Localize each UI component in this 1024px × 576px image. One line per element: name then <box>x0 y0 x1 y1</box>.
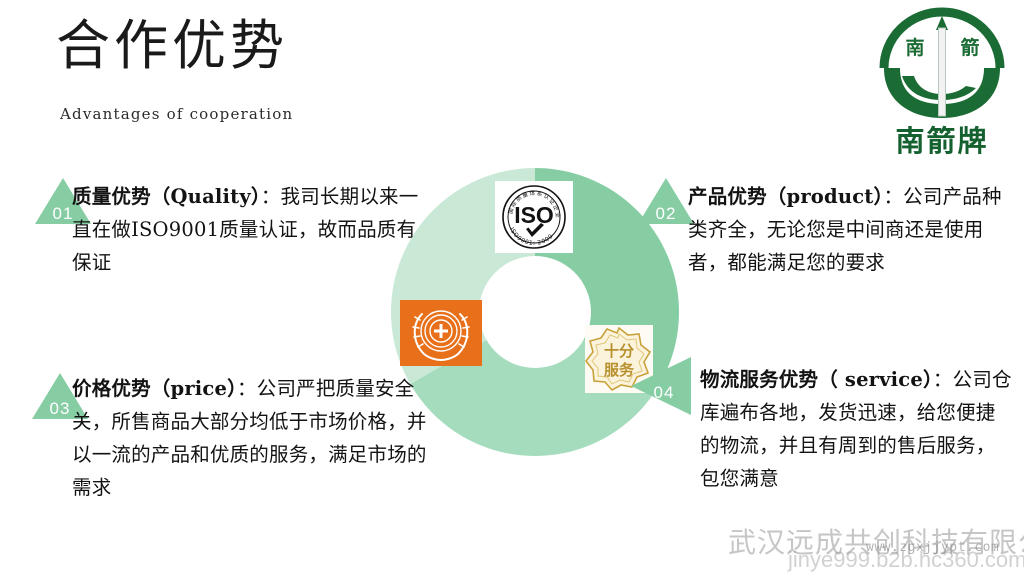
page-title: 合作优势 <box>56 18 288 75</box>
iso-certification-badge: 国际质量体系认证企业 ISO ISO9001: 2000 <box>495 181 573 253</box>
nanjian-logo-icon: 南 箭 <box>872 6 1012 121</box>
marker-04: 04 <box>625 355 693 417</box>
brand-logo: 南 箭 南箭牌 <box>872 6 1012 166</box>
logo-char-right: 箭 <box>960 36 979 59</box>
marker-02: 02 <box>636 176 696 226</box>
advantage-03-heading: 价格优势（price） <box>72 377 237 400</box>
logo-wordmark: 南箭牌 <box>872 118 1012 160</box>
quality-seal-badge <box>400 300 482 366</box>
marker-04-number: 04 <box>635 383 693 403</box>
watermark-url-primary: www.zgxjjypt.com <box>866 540 999 555</box>
watermark-company: 武汉远成共创科技有限公司 <box>728 521 1024 561</box>
advantage-item-03: 价格优势（price）：公司严把质量安全关，所售商品大部分均低于市场价格，并以一… <box>72 372 432 504</box>
logo-char-left: 南 <box>905 37 924 59</box>
advantage-02-heading: 产品优势（product） <box>688 185 883 208</box>
advantage-01-heading: 质量优势（Quality） <box>72 185 261 208</box>
page-subtitle: Advantages of cooperation <box>60 105 293 123</box>
donut-center-hole <box>479 256 591 368</box>
advantage-04-heading: 物流服务优势（ service） <box>700 368 933 391</box>
advantage-item-01: 质量优势（Quality）：我司长期以来一直在做ISO9001质量认证，故而品质… <box>72 180 432 279</box>
advantage-item-04: 物流服务优势（ service）：公司仓库遍布各地，发货迅速，给您便捷的物流，并… <box>700 363 1015 495</box>
iso-main-text: ISO <box>514 202 554 228</box>
slide-canvas: 合作优势 Advantages of cooperation 南 箭 南箭牌 <box>0 0 1024 576</box>
watermark-url-secondary: jinye999.b2b.hc360.com <box>788 547 1024 573</box>
marker-02-number: 02 <box>636 204 696 224</box>
advantage-item-02: 产品优势（product）：公司产品种类齐全，无论您是中间商还是使用者，都能满足… <box>688 180 1013 279</box>
